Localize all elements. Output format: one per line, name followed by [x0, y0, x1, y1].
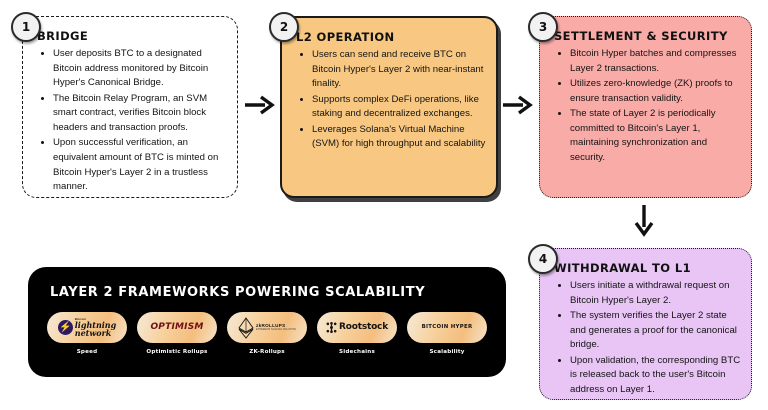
lightning-bolt-icon: ⚡ — [58, 320, 73, 335]
bullet-item: Upon validation, the corresponding BTC i… — [570, 354, 741, 398]
framework-item-optimistic-rollups[interactable]: OPTIMISM Optimistic Rollups — [136, 312, 218, 355]
step-badge-4-number: 4 — [539, 252, 547, 266]
framework-item-sidechains[interactable]: Rootstock Sidechains — [316, 312, 398, 355]
framework-item-scalability[interactable]: BITCOIN HYPER Scalability — [406, 312, 488, 355]
rootstock-label: Rootstock — [339, 323, 388, 332]
bullet-item: Upon successful verification, an equival… — [53, 136, 227, 194]
step-bullets-settlement-security: Bitcoin Hyper batches and compresses Lay… — [552, 47, 741, 166]
step-card-withdrawal-to-l1[interactable]: WITHDRAWAL TO L1 Users initiate a withdr… — [539, 248, 752, 400]
bullet-item: Users can send and receive BTC on Bitcoi… — [312, 48, 486, 92]
step-badge-1: 1 — [11, 12, 41, 42]
step-title-withdrawal-to-l1: WITHDRAWAL TO L1 — [554, 261, 741, 275]
framework-caption-scalability: Scalability — [429, 349, 464, 355]
ethereum-diamond-icon — [238, 317, 254, 339]
network-word-label: network — [75, 329, 116, 337]
bullet-item: The system verifies the Layer 2 state an… — [570, 309, 741, 353]
step-bullets-withdrawal-to-l1: Users initiate a withdrawal request on B… — [552, 279, 741, 398]
framework-logo-lightning-network: ⚡ Bitcoin lightning network — [47, 312, 127, 343]
step-title-l2-operation: L2 OPERATION — [296, 30, 486, 44]
arrow-step3-to-step4 — [632, 203, 656, 237]
bullet-item: Supports complex DeFi operations, like s… — [312, 93, 486, 122]
bullet-item: Leverages Solana's Virtual Machine (SVM)… — [312, 123, 486, 152]
step-badge-3: 3 — [528, 12, 558, 42]
arrow-step2-to-step3 — [501, 93, 533, 117]
framework-item-speed[interactable]: ⚡ Bitcoin lightning network Speed — [46, 312, 128, 355]
bullet-item: The state of Layer 2 is periodically com… — [570, 107, 741, 165]
frameworks-logo-row: ⚡ Bitcoin lightning network Speed OPTIMI… — [28, 300, 506, 355]
bullet-item: The Bitcoin Relay Program, an SVM smart … — [53, 92, 227, 136]
step-bullets-l2-operation: Users can send and receive BTC on Bitcoi… — [294, 48, 486, 152]
framework-logo-zkrollups: zkROLLUPS ETHEREUM SCALING SOLUTION — [227, 312, 307, 343]
step-badge-2: 2 — [269, 12, 299, 42]
framework-caption-zk-rollups: ZK-Rollups — [249, 349, 285, 355]
diagram-canvas: BRIDGE User deposits BTC to a designated… — [0, 0, 768, 410]
bullet-item: User deposits BTC to a designated Bitcoi… — [53, 47, 227, 91]
step-badge-3-number: 3 — [539, 20, 547, 34]
step-badge-4: 4 — [528, 244, 558, 274]
optimism-icon: OPTIMISM — [150, 323, 203, 332]
framework-logo-rootstock: Rootstock — [317, 312, 397, 343]
step-bullets-bridge: User deposits BTC to a designated Bitcoi… — [35, 47, 227, 195]
step-title-bridge: BRIDGE — [37, 29, 227, 43]
framework-item-zk-rollups[interactable]: zkROLLUPS ETHEREUM SCALING SOLUTION ZK-R… — [226, 312, 308, 355]
arrow-step1-to-step2 — [243, 93, 275, 117]
framework-caption-speed: Speed — [77, 349, 98, 355]
step-badge-2-number: 2 — [280, 20, 288, 34]
bullet-item: Users initiate a withdrawal request on B… — [570, 279, 741, 308]
step-badge-1-number: 1 — [22, 20, 30, 34]
framework-caption-optimistic-rollups: Optimistic Rollups — [146, 349, 207, 355]
step-card-settlement-security[interactable]: SETTLEMENT & SECURITY Bitcoin Hyper batc… — [539, 16, 752, 198]
rootstock-icon — [326, 322, 337, 333]
framework-logo-bitcoin-hyper: BITCOIN HYPER — [407, 312, 487, 343]
frameworks-panel: LAYER 2 FRAMEWORKS POWERING SCALABILITY … — [28, 267, 506, 377]
bullet-item: Bitcoin Hyper batches and compresses Lay… — [570, 47, 741, 76]
frameworks-panel-title: LAYER 2 FRAMEWORKS POWERING SCALABILITY — [50, 285, 506, 300]
bitcoin-hyper-icon: BITCOIN HYPER — [422, 325, 473, 330]
step-card-bridge[interactable]: BRIDGE User deposits BTC to a designated… — [22, 16, 238, 198]
zkrollups-sub-label: ETHEREUM SCALING SOLUTION — [256, 329, 296, 331]
bullet-item: Utilizes zero-knowledge (ZK) proofs to e… — [570, 77, 741, 106]
step-title-settlement-security: SETTLEMENT & SECURITY — [554, 29, 741, 43]
step-card-l2-operation[interactable]: L2 OPERATION Users can send and receive … — [280, 16, 498, 198]
framework-logo-optimism: OPTIMISM — [137, 312, 217, 343]
framework-caption-sidechains: Sidechains — [339, 349, 375, 355]
